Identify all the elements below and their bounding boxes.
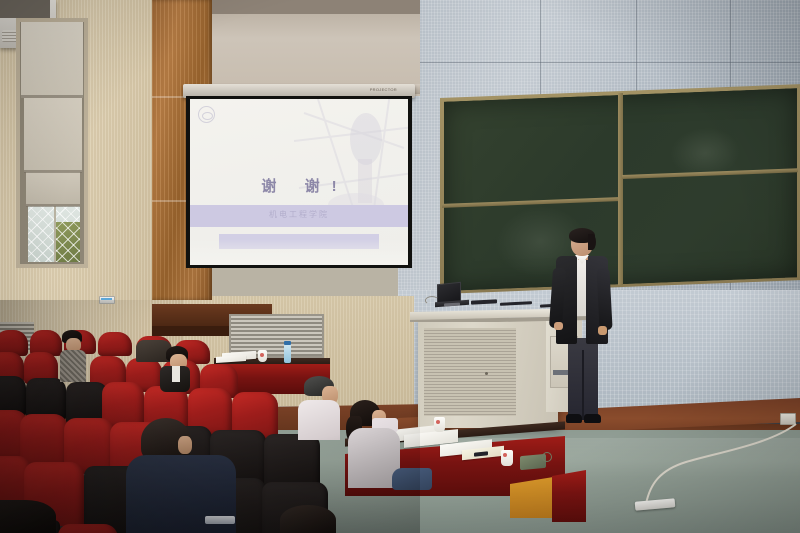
window-mullion [54,206,56,262]
slide-headline: 谢 谢! [190,175,408,196]
slide-subtitle: 机电工程学院 [190,209,408,220]
presenter-hand-left [554,322,563,330]
wall-switch-led-icon [101,298,112,300]
wall-seam [636,0,637,100]
projector-screen-surface: 谢 谢! 机电工程学院 [190,99,408,265]
extension-cable [600,418,800,513]
slide-logo-icon [198,106,215,123]
seat[interactable] [98,332,132,356]
paper-cup [501,450,513,466]
bag-handle [542,452,552,462]
console-lock-icon[interactable] [485,372,488,375]
presenter-hand-right [598,326,607,335]
wall-seam [398,62,800,63]
projector-screen-case-label: PROJECTOR [370,87,397,92]
presenter-trouser-seam [582,350,584,420]
person-collar [172,366,180,382]
person-torso [298,400,340,440]
blind-bar [24,170,82,173]
person-face [178,436,192,454]
person-hair [280,505,336,533]
lecture-hall-photo: PROJECTOR 谢 谢! 机电工程学院 [0,0,800,533]
person-sleeve-cuff [205,516,235,524]
person-torso [60,350,86,382]
blind-bar [21,95,83,98]
seat[interactable] [58,524,118,533]
window-foliage [56,222,80,262]
presenter-hair-side [588,234,596,250]
table-cloth-edge [552,470,586,522]
window-blind[interactable] [24,98,82,172]
air-conditioner-top [0,0,50,18]
blind-bar [26,204,80,207]
person-hair [0,500,56,533]
person-jeans [392,468,432,490]
microphone-goose-neck[interactable] [425,296,439,305]
presenter-shoe [566,414,582,423]
slide-glare [190,239,408,265]
presenter-shoe [584,414,601,423]
blackboard-divider [618,93,623,285]
blackboard [440,84,800,294]
window-blind[interactable] [21,22,83,98]
window-blind[interactable] [26,172,80,206]
